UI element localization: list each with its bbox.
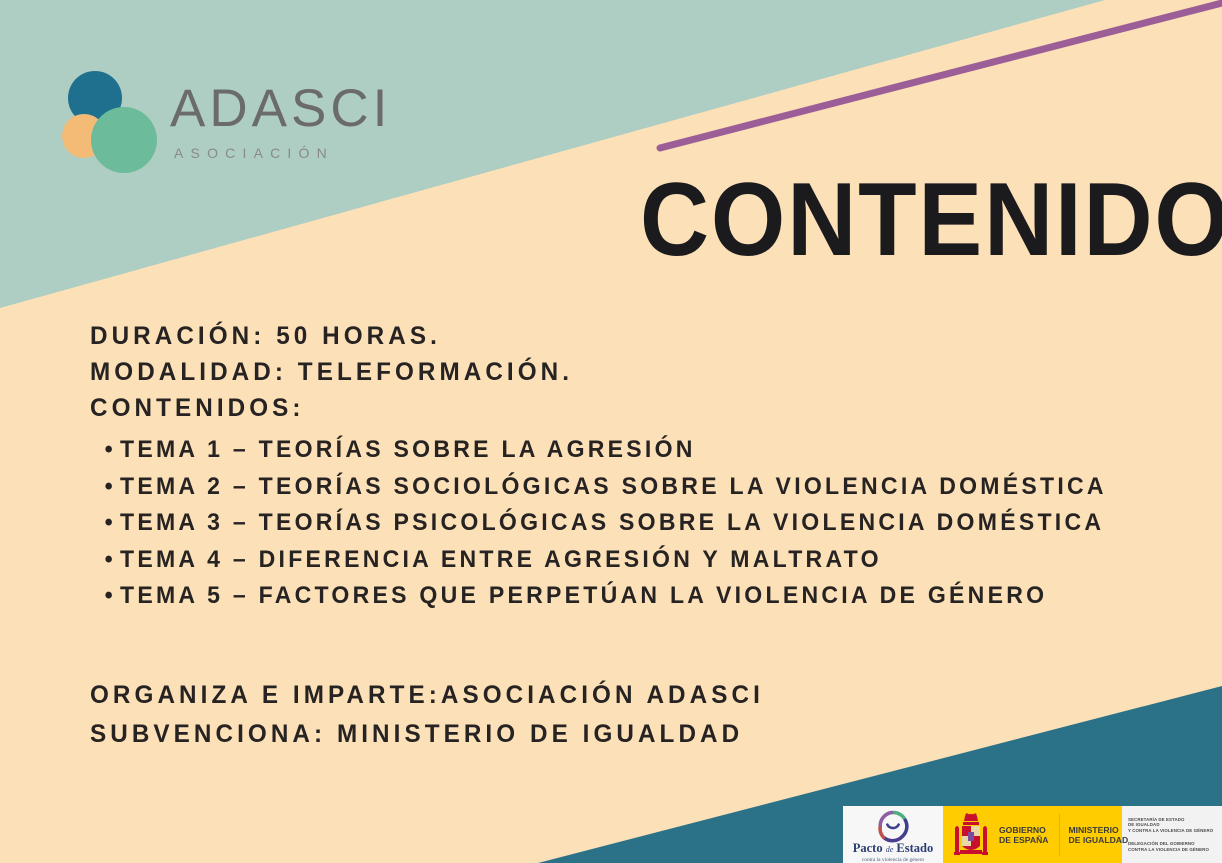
gobierno-label-line2: DE ESPAÑA (999, 835, 1049, 845)
list-item-label: TEMA 2 – TEORÍAS SOCIOLÓGICAS SOBRE LA V… (120, 473, 1107, 500)
secretaria-top-line3: Y CONTRA LA VIOLENCIA DE GÉNERO (1128, 828, 1222, 833)
adasci-logo-text: ADASCI ASOCIACIÓN (170, 82, 391, 161)
tema-list: • TEMA 1 – TEORÍAS SOBRE LA AGRESIÓN • T… (90, 432, 1150, 615)
meta-line-duracion: DURACIÓN: 50 HORAS. (90, 318, 1118, 354)
ministerio-label-line2: DE IGUALDAD (1069, 835, 1129, 845)
spain-coat-of-arms-icon (949, 810, 993, 860)
adasci-logo-name: ADASCI (170, 82, 391, 135)
page-title: CONTENIDOS (640, 168, 1222, 272)
pacto-label-main: Pacto (853, 841, 883, 855)
slide-canvas: ADASCI ASOCIACIÓN CONTENIDOS DURACIÓN: 5… (0, 0, 1222, 863)
sponsor-logo-bar: Pacto de Estado contra la violencia de g… (843, 806, 1222, 863)
credits-block: ORGANIZA E IMPARTE:ASOCIACIÓN ADASCI SUB… (90, 676, 785, 754)
gobierno-label-line1: GOBIERNO (999, 825, 1049, 835)
list-item: • TEMA 1 – TEORÍAS SOBRE LA AGRESIÓN (120, 432, 1109, 469)
meta-line-modalidad: MODALIDAD: TELEFORMACIÓN. (90, 354, 1118, 390)
purple-accent-line (660, 3, 1222, 148)
pacto-sublabel: contra la violencia de género (862, 857, 924, 863)
bullet-icon: • (105, 505, 116, 542)
credit-organiza: ORGANIZA E IMPARTE:ASOCIACIÓN ADASCI (90, 676, 764, 715)
delegacion-bottom: DELEGACIÓN DEL GOBIERNO CONTRA LA VIOLEN… (1128, 841, 1222, 852)
secretaria-estado-block: SECRETARÍA DE ESTADO DE IGUALDAD Y CONTR… (1122, 806, 1222, 863)
list-item: • TEMA 2 – TEORÍAS SOCIOLÓGICAS SOBRE LA… (120, 469, 1109, 506)
list-item: • TEMA 5 – FACTORES QUE PERPETÚAN LA VIO… (120, 578, 1109, 615)
ministerio-label-line1: MINISTERIO (1069, 825, 1129, 835)
bullet-icon: • (105, 469, 116, 506)
gobierno-divider (1059, 814, 1060, 856)
three-circles-icon (62, 68, 172, 176)
gobierno-de-espana-logo: GOBIERNO DE ESPAÑA MINISTERIO DE IGUALDA… (943, 806, 1122, 863)
pacto-label-de: de (886, 845, 894, 854)
ministerio-label: MINISTERIO DE IGUALDAD (1069, 825, 1129, 845)
pacto-de-estado-logo: Pacto de Estado contra la violencia de g… (843, 806, 943, 863)
list-item-label: TEMA 5 – FACTORES QUE PERPETÚAN LA VIOLE… (120, 582, 1047, 609)
adasci-logo: ADASCI ASOCIACIÓN (62, 68, 392, 178)
list-item-label: TEMA 1 – TEORÍAS SOBRE LA AGRESIÓN (120, 436, 696, 463)
delegacion-line2: CONTRA LA VIOLENCIA DE GÉNERO (1128, 847, 1222, 852)
bullet-icon: • (105, 542, 116, 579)
secretaria-top: SECRETARÍA DE ESTADO DE IGUALDAD Y CONTR… (1128, 817, 1222, 833)
content-body: DURACIÓN: 50 HORAS. MODALIDAD: TELEFORMA… (90, 318, 1150, 615)
adasci-logo-subtitle: ASOCIACIÓN (174, 145, 391, 161)
list-item: • TEMA 4 – DIFERENCIA ENTRE AGRESIÓN Y M… (120, 542, 1109, 579)
pacto-label-tail: Estado (896, 841, 933, 855)
list-item-label: TEMA 3 – TEORÍAS PSICOLÓGICAS SOBRE LA V… (120, 509, 1104, 536)
meta-line-contenidos: CONTENIDOS: (90, 390, 1118, 426)
credit-subvenciona: SUBVENCIONA: MINISTERIO DE IGUALDAD (90, 715, 764, 754)
bullet-icon: • (105, 432, 116, 469)
bullet-icon: • (105, 578, 116, 615)
pacto-smile-ring-icon (874, 809, 912, 843)
list-item: • TEMA 3 – TEORÍAS PSICOLÓGICAS SOBRE LA… (120, 505, 1109, 542)
gobierno-label: GOBIERNO DE ESPAÑA (999, 825, 1049, 845)
pacto-label: Pacto de Estado (853, 842, 934, 856)
list-item-label: TEMA 4 – DIFERENCIA ENTRE AGRESIÓN Y MAL… (120, 546, 882, 573)
